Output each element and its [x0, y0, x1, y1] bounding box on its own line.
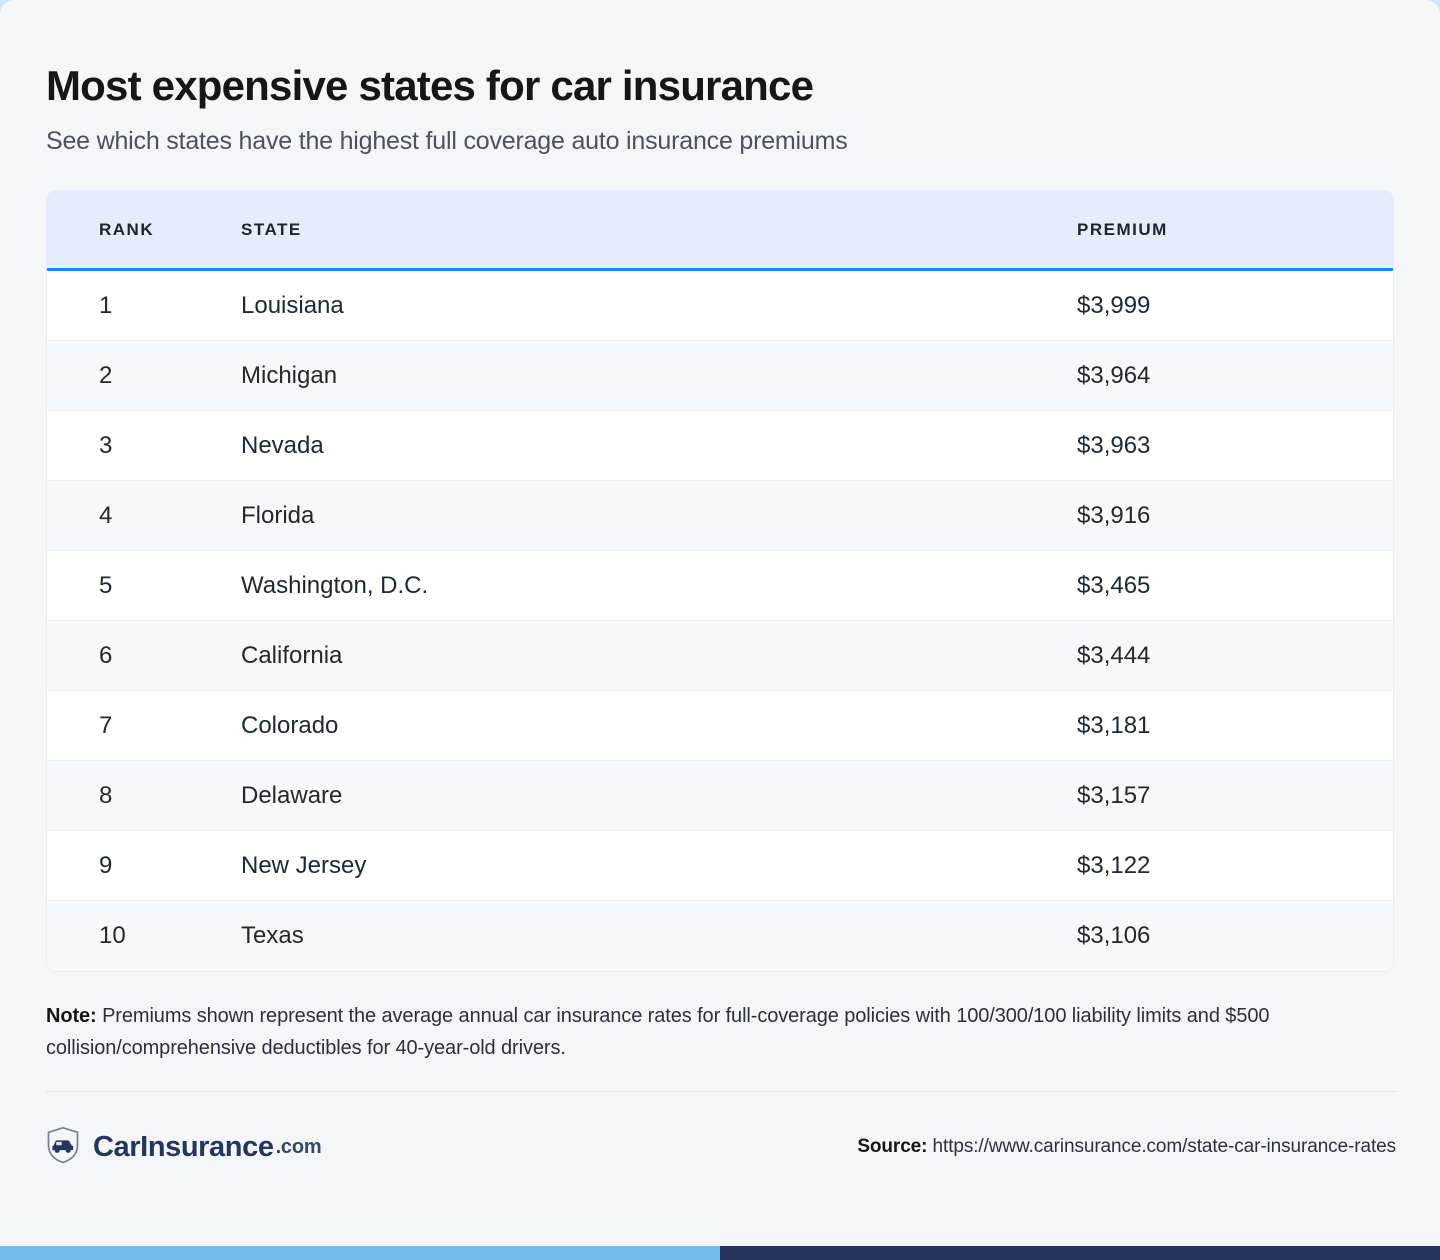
- note-text: Premiums shown represent the average ann…: [46, 1005, 1269, 1059]
- column-header-state: STATE: [237, 220, 1037, 240]
- cell-rank: 7: [47, 712, 237, 740]
- bottom-accent-bar: [0, 1246, 1440, 1260]
- cell-state: Delaware: [237, 782, 1037, 810]
- page-subtitle: See which states have the highest full c…: [46, 127, 1394, 156]
- table-row[interactable]: 8 Delaware $3,157: [47, 761, 1393, 831]
- infographic-card: Most expensive states for car insurance …: [0, 0, 1440, 1247]
- source-label: Source:: [857, 1136, 927, 1157]
- cell-state: Washington, D.C.: [237, 572, 1037, 600]
- note-label: Note:: [46, 1005, 97, 1027]
- cell-state: Nevada: [237, 432, 1037, 460]
- cell-rank: 4: [47, 502, 237, 530]
- cell-premium: $3,444: [1037, 642, 1393, 670]
- cell-rank: 9: [47, 852, 237, 880]
- column-header-premium: PREMIUM: [1037, 220, 1393, 240]
- table-row[interactable]: 5 Washington, D.C. $3,465: [47, 551, 1393, 621]
- bottom-bar-left-segment: [0, 1246, 720, 1260]
- cell-premium: $3,181: [1037, 712, 1393, 740]
- table-note: Note: Premiums shown represent the avera…: [46, 1000, 1396, 1065]
- rates-table: RANK STATE PREMIUM 1 Louisiana $3,999 2 …: [46, 190, 1394, 972]
- table-row[interactable]: 10 Texas $3,106: [47, 901, 1393, 971]
- table-row[interactable]: 6 California $3,444: [47, 621, 1393, 691]
- cell-premium: $3,157: [1037, 782, 1393, 810]
- table-row[interactable]: 4 Florida $3,916: [47, 481, 1393, 551]
- brand-name: CarInsurance: [93, 1131, 274, 1164]
- bottom-bar-right-segment: [720, 1246, 1440, 1260]
- shield-car-icon: [46, 1126, 80, 1169]
- page-title: Most expensive states for car insurance: [46, 62, 1394, 109]
- cell-premium: $3,999: [1037, 292, 1393, 320]
- footer: CarInsurance .com Source: https://www.ca…: [46, 1126, 1396, 1169]
- table-header-row: RANK STATE PREMIUM: [47, 191, 1393, 271]
- cell-rank: 3: [47, 432, 237, 460]
- cell-state: Texas: [237, 922, 1037, 950]
- cell-premium: $3,106: [1037, 922, 1393, 950]
- cell-premium: $3,916: [1037, 502, 1393, 530]
- cell-rank: 6: [47, 642, 237, 670]
- cell-state: Louisiana: [237, 292, 1037, 320]
- table-row[interactable]: 7 Colorado $3,181: [47, 691, 1393, 761]
- cell-rank: 8: [47, 782, 237, 810]
- table-row[interactable]: 2 Michigan $3,964: [47, 341, 1393, 411]
- cell-rank: 5: [47, 572, 237, 600]
- cell-premium: $3,963: [1037, 432, 1393, 460]
- cell-state: Michigan: [237, 362, 1037, 390]
- footer-divider: [46, 1091, 1396, 1092]
- brand-logo[interactable]: CarInsurance .com: [46, 1126, 321, 1169]
- brand-tld: .com: [276, 1136, 322, 1159]
- cell-rank: 10: [47, 922, 237, 950]
- cell-rank: 1: [47, 292, 237, 320]
- cell-premium: $3,122: [1037, 852, 1393, 880]
- cell-rank: 2: [47, 362, 237, 390]
- table-row[interactable]: 1 Louisiana $3,999: [47, 271, 1393, 341]
- table-row[interactable]: 3 Nevada $3,963: [47, 411, 1393, 481]
- cell-state: Colorado: [237, 712, 1037, 740]
- column-header-rank: RANK: [47, 220, 237, 240]
- table-row[interactable]: 9 New Jersey $3,122: [47, 831, 1393, 901]
- cell-state: New Jersey: [237, 852, 1037, 880]
- cell-premium: $3,465: [1037, 572, 1393, 600]
- cell-state: Florida: [237, 502, 1037, 530]
- cell-premium: $3,964: [1037, 362, 1393, 390]
- source-url: https://www.carinsurance.com/state-car-i…: [927, 1136, 1396, 1157]
- source-attribution: Source: https://www.carinsurance.com/sta…: [857, 1136, 1396, 1158]
- cell-state: California: [237, 642, 1037, 670]
